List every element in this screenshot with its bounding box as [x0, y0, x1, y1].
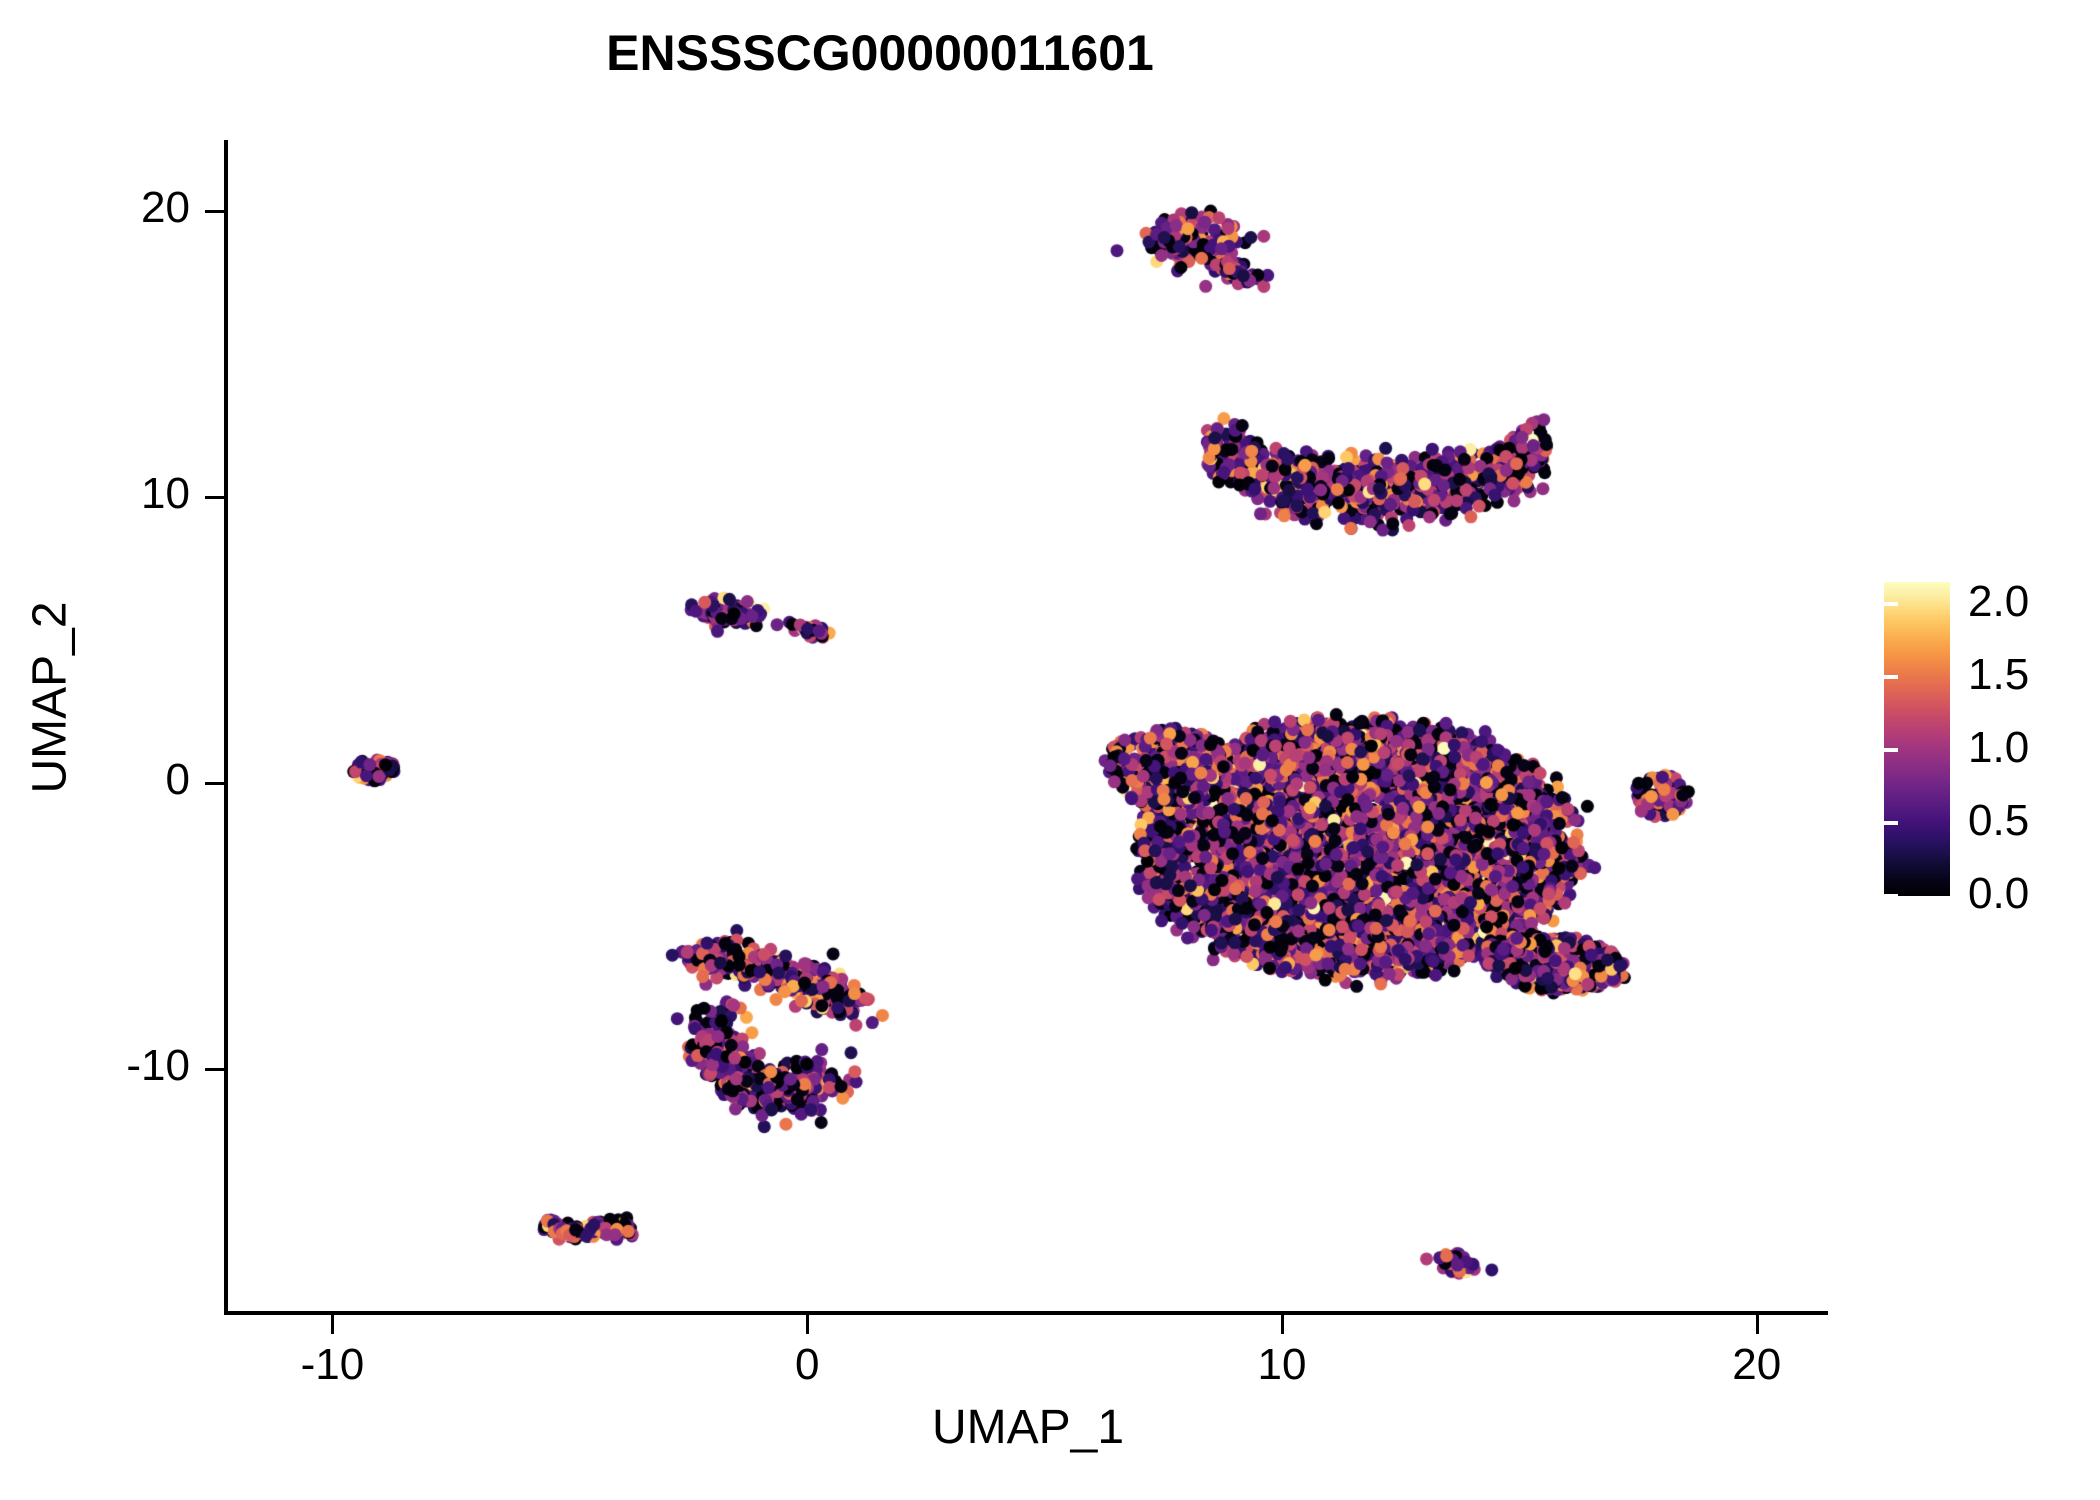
x-tick-label: 10: [1182, 1340, 1382, 1390]
y-tick-label: 20: [0, 183, 190, 233]
colorbar-tick-label: 0.5: [1968, 796, 2029, 846]
x-tick-label: 0: [707, 1340, 907, 1390]
y-tick-label: -10: [0, 1041, 190, 1091]
x-tick: [331, 1315, 334, 1334]
colorbar-tick-mark: [1870, 821, 1884, 825]
y-axis-line: [224, 140, 228, 1315]
y-tick: [205, 1068, 224, 1071]
colorbar-tick-mark: [1884, 675, 1898, 679]
chart-root: ENSSSCG00000011601 -1001020 20100-10 UMA…: [0, 0, 2100, 1500]
colorbar-tick-mark: [1884, 894, 1898, 898]
chart-title: ENSSSCG00000011601: [0, 24, 1760, 82]
colorbar-tick-label: 1.0: [1968, 723, 2029, 773]
colorbar-tick-mark: [1870, 748, 1884, 752]
y-tick: [205, 210, 224, 213]
colorbar-tick-mark: [1870, 894, 1884, 898]
colorbar-tick-mark: [1884, 602, 1898, 606]
colorbar-tick-label: 1.5: [1968, 650, 2029, 700]
x-axis-line: [228, 1311, 1828, 1315]
colorbar-tick-mark: [1884, 748, 1898, 752]
colorbar-tick-mark: [1870, 675, 1884, 679]
y-tick: [205, 496, 224, 499]
y-tick: [205, 782, 224, 785]
colorbar-tick-label: 0.0: [1968, 869, 2029, 919]
colorbar-tick-mark: [1884, 821, 1898, 825]
x-tick-label: -10: [232, 1340, 432, 1390]
colorbar-tick-mark: [1870, 602, 1884, 606]
x-tick-label: 20: [1657, 1340, 1857, 1390]
plot-panel: [228, 140, 1828, 1312]
colorbar-tick-label: 2.0: [1968, 577, 2029, 627]
x-tick: [806, 1315, 809, 1334]
x-axis-title: UMAP_1: [228, 1400, 1828, 1455]
x-tick: [1756, 1315, 1759, 1334]
scatter-plot-canvas: [228, 140, 1828, 1312]
colorbar-gradient: [1884, 582, 1950, 896]
y-axis-title: UMAP_2: [23, 378, 78, 1018]
x-tick: [1281, 1315, 1284, 1334]
